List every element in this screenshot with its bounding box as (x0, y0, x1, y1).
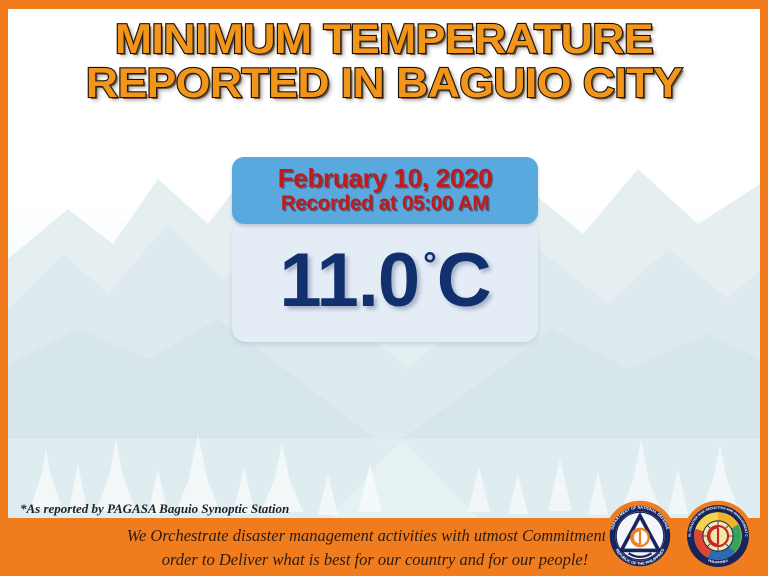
temperature-readout: 11.0 ° C (279, 242, 490, 320)
temperature-unit: C (437, 242, 491, 320)
report-time: Recorded at 05:00 AM (243, 192, 527, 215)
poster-canvas: MINIMUM TEMPERATURE REPORTED IN BAGUIO C… (8, 9, 760, 576)
page-title: MINIMUM TEMPERATURE REPORTED IN BAGUIO C… (8, 17, 760, 105)
report-date: February 10, 2020 (240, 164, 530, 192)
temperature-card: February 10, 2020 Recorded at 05:00 AM 1… (232, 157, 538, 342)
weather-advisory-poster: MINIMUM TEMPERATURE REPORTED IN BAGUIO C… (0, 0, 768, 576)
title-line-2: REPORTED IN BAGUIO CITY (8, 61, 760, 105)
temperature-card-header: February 10, 2020 Recorded at 05:00 AM (232, 157, 538, 224)
agency-logos: DEPARTMENT OF NATIONAL DEFENSE REPUBLIC … (604, 500, 754, 572)
ocd-seal-icon: DEPARTMENT OF NATIONAL DEFENSE REPUBLIC … (604, 500, 676, 572)
temperature-value: 11.0 (279, 242, 419, 320)
degree-symbol: ° (423, 248, 436, 282)
title-line-1: MINIMUM TEMPERATURE (8, 17, 760, 61)
source-footnote: *As reported by PAGASA Baguio Synoptic S… (20, 501, 289, 517)
ndrrmc-seal-icon: NATIONAL DISASTER RISK REDUCTION AND MAN… (682, 500, 754, 572)
temperature-card-body: 11.0 ° C (232, 220, 538, 342)
